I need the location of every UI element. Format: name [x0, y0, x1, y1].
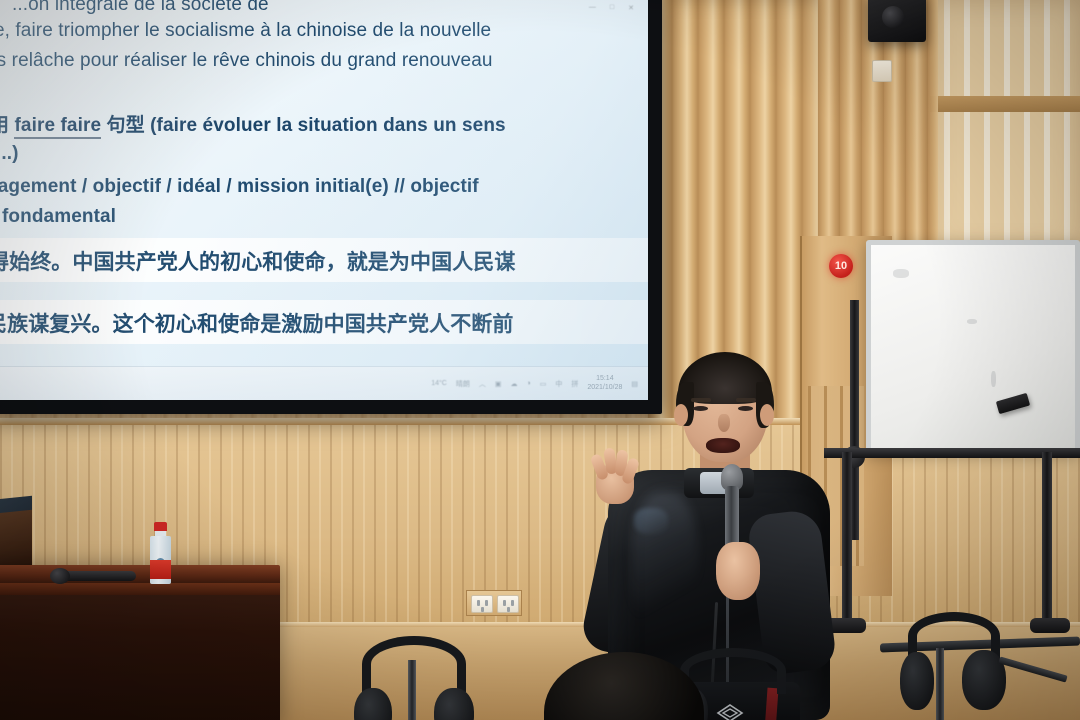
presenter-ear-right: [760, 404, 774, 426]
presenter-mic-hand: [716, 542, 760, 600]
close-icon[interactable]: ✕: [628, 4, 634, 12]
slide-line-1: e, faire triompher le socialisme à la ch…: [0, 20, 602, 42]
ime-language-indicator[interactable]: 中: [555, 379, 562, 389]
slide-line-6: ' fondamental: [0, 206, 600, 228]
whiteboard-eraser[interactable]: [996, 393, 1030, 414]
volume-icon[interactable]: ◑: [526, 380, 530, 387]
presenter-eye-left: [693, 406, 708, 411]
weather-temp: 14°C: [431, 380, 447, 387]
network-icon[interactable]: ▣: [495, 380, 502, 388]
translation-headset-right[interactable]: [900, 612, 1010, 720]
whiteboard-smudge: [991, 371, 996, 387]
presenter-nose: [718, 414, 730, 432]
water-bottle[interactable]: [150, 522, 171, 584]
whiteboard-smudge: [893, 269, 909, 278]
weather-label: 晴朗: [456, 379, 470, 389]
lecture-hall-photo: 10 ...on intégrale de la société de e, f…: [0, 0, 1080, 720]
slide-line-0: ...on intégrale de la société de: [12, 0, 620, 16]
desk-microphone[interactable]: [62, 571, 136, 581]
whiteboard-foot: [1030, 618, 1070, 633]
podium-surface: [0, 565, 280, 583]
bottle-cap: [154, 522, 167, 531]
headset-stand-post: [408, 660, 416, 720]
podium-edge-moulding: [0, 583, 280, 595]
minimize-icon[interactable]: —: [589, 4, 596, 12]
headset-earcup: [900, 652, 934, 710]
slide-line-8: 民族谋复兴。这个初心和使命是激励中国共产党人不断前: [0, 308, 594, 338]
wall-outlet-panel: [466, 590, 522, 616]
slide-line-5: gagement / objectif / idéal / mission in…: [0, 176, 594, 198]
power-outlet[interactable]: [471, 595, 493, 613]
whiteboard: [866, 240, 1080, 454]
slide-line-3-suffix: 句型 (faire évoluer la situation dans un s…: [101, 115, 506, 136]
wall-switch-plate[interactable]: [872, 60, 892, 82]
whiteboard-leg: [1042, 452, 1052, 630]
headset-earcup: [434, 688, 474, 720]
chevron-up-icon[interactable]: ︿: [479, 379, 486, 389]
power-outlet[interactable]: [497, 595, 519, 613]
projection-screen: ...on intégrale de la société de e, fair…: [0, 0, 648, 400]
window-controls[interactable]: — □ ✕: [589, 4, 634, 12]
presenter-brow-right: [736, 398, 756, 402]
wall-speaker-icon: [868, 0, 926, 42]
slide-line-4: ...): [0, 143, 604, 165]
headset-earcup: [354, 688, 392, 720]
slide-line-2: ns relâche pour réaliser le rêve chinois…: [0, 50, 594, 72]
whiteboard-smudge: [967, 319, 977, 324]
slide-line-7: 得始终。中国共产党人的初心和使命，就是为中国人民谋: [0, 246, 596, 276]
presenter-raised-hand: [592, 450, 640, 506]
windows-taskbar[interactable]: 14°C 晴朗 ︿ ▣ ☁ ◑ ▭ 中 拼 15:14 2021/10/28 ▤: [0, 366, 648, 400]
upper-slat-screen: [930, 0, 1080, 250]
bottle-label: [150, 560, 171, 579]
ime-mode-indicator[interactable]: 拼: [571, 379, 578, 389]
slide-line-3: 用 faire faire 句型 (faire évoluer la situa…: [0, 110, 598, 137]
jacket-shoulder-detail: [634, 508, 668, 534]
projection-screen-frame: ...on intégrale de la société de e, fair…: [0, 0, 662, 414]
presenter-brow-left: [691, 398, 711, 402]
presenter-mouth: [706, 438, 740, 453]
room-number-badge: 10: [829, 254, 853, 278]
slide-content: ...on intégrale de la société de e, fair…: [0, 0, 648, 400]
presenter-eye-right: [738, 406, 753, 411]
slide-line-3-emphasis: faire faire: [14, 115, 101, 139]
translation-headset-left[interactable]: [356, 636, 476, 720]
maximize-icon[interactable]: □: [610, 4, 614, 12]
slide-line-3-prefix: 用: [0, 115, 14, 136]
presenter-ear-left: [674, 404, 688, 426]
cloud-icon[interactable]: ☁: [510, 380, 517, 388]
slat-crossbar: [930, 96, 1080, 112]
battery-icon[interactable]: ▭: [540, 380, 547, 388]
